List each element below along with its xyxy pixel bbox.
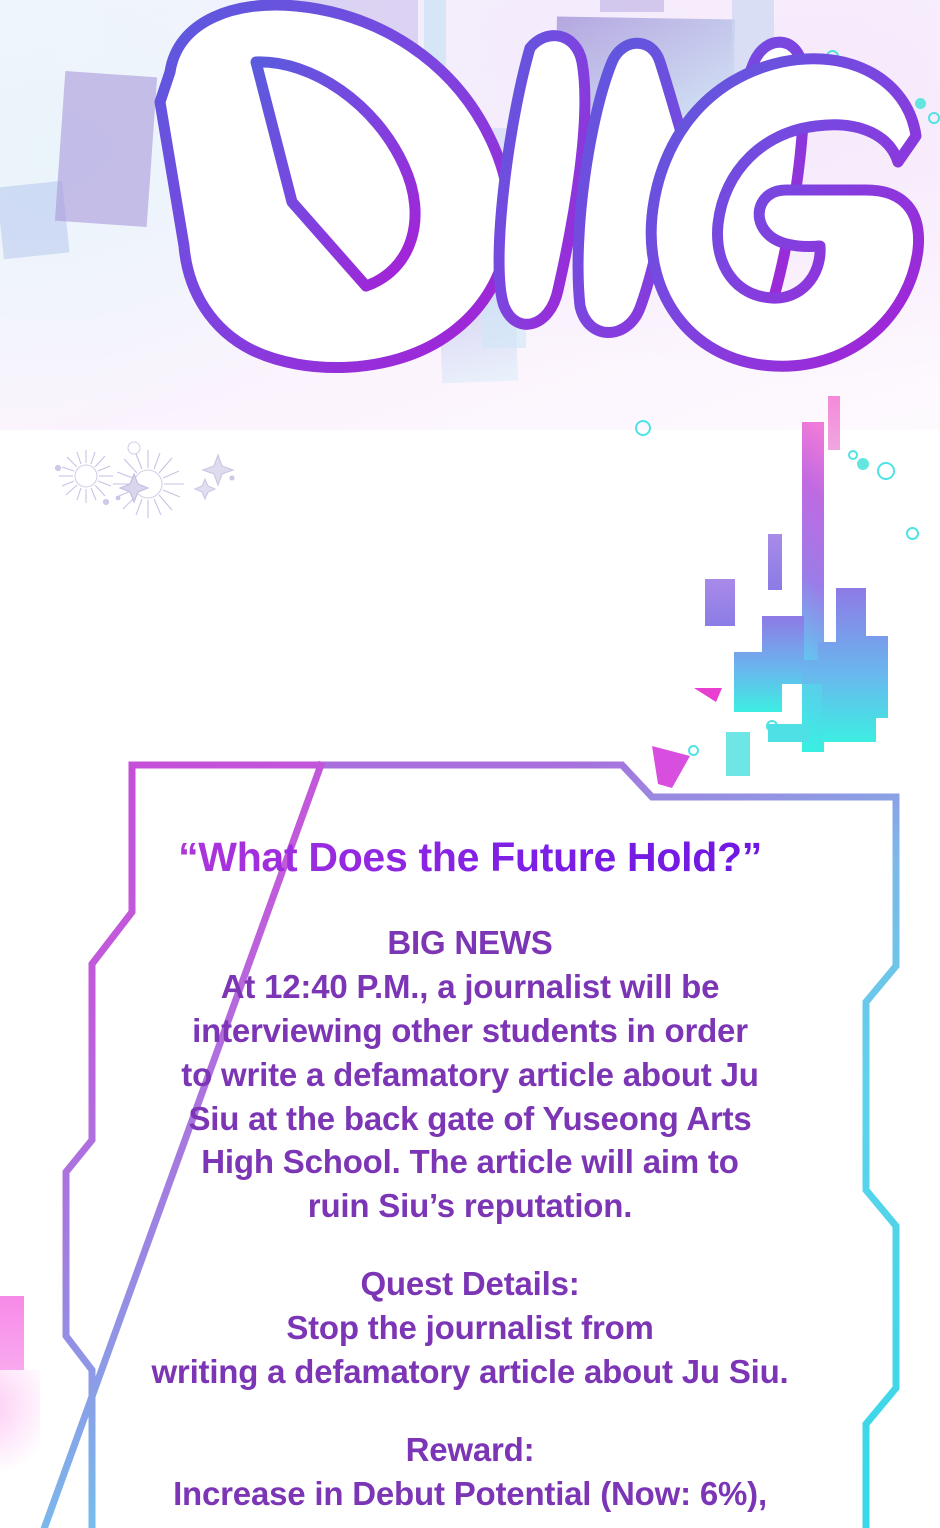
quest-body: BIG NEWS At 12:40 P.M., a journalist wil… [84,921,856,1516]
sound-effect-ding [60,0,940,414]
briefing-line-2: to write a defamatory article about Ju [84,1053,856,1097]
quest-details-line-0: Stop the journalist from [84,1306,856,1350]
briefing-line-1: interviewing other students in order [84,1009,856,1053]
briefing-line-3: Siu at the back gate of Yuseong Arts [84,1097,856,1141]
comic-panel: “What Does the Future Hold?” BIG NEWS At… [0,0,940,1528]
spacer-2 [84,1394,856,1428]
briefing-line-0: At 12:40 P.M., a journalist will be [84,965,856,1009]
quest-title: “What Does the Future Hold?” [84,836,856,879]
briefing-line-4: High School. The article will aim to [84,1140,856,1184]
magenta-edge-glow [0,1370,40,1490]
quest-headline: BIG NEWS [84,921,856,965]
spacer-1 [84,1228,856,1262]
briefing-line-5: ruin Siu’s reputation. [84,1184,856,1228]
magenta-edge-block [0,1296,24,1370]
quest-text-panel: “What Does the Future Hold?” BIG NEWS At… [84,836,856,1516]
quest-details-label: Quest Details: [84,1262,856,1306]
reward-label: Reward: [84,1428,856,1472]
reward-line-0: Increase in Debut Potential (Now: 6%), [84,1472,856,1516]
quest-details-line-1: writing a defamatory article about Ju Si… [84,1350,856,1394]
sparkle-burst-icon [42,432,242,524]
